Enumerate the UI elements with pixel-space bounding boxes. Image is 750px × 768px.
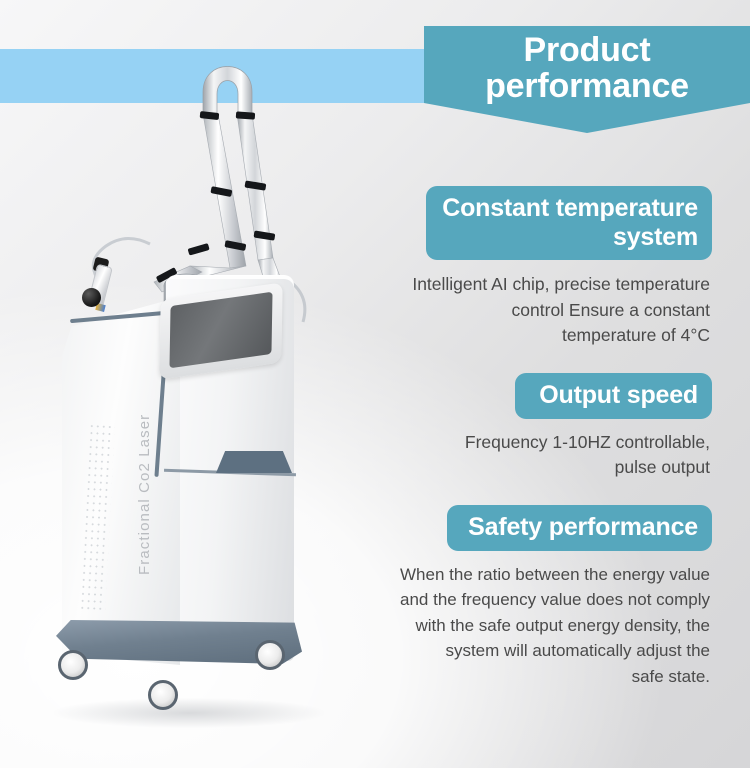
feature-heading-pill: Safety performance [447,505,712,551]
caster-wheel-disc [255,640,285,670]
caster-wheel [255,640,289,674]
feature-heading-row: Constant temperature system [330,186,712,260]
caster-wheel-disc [148,680,178,710]
feature-body-text: Intelligent AI chip, precise temperature… [330,260,712,349]
caster-wheel [148,680,182,714]
feature-heading-pill: Constant temperature system [426,186,712,260]
product-image: Fractional Co2 Laser [40,20,370,750]
header-banner: Product performance [424,26,750,133]
caster-wheel-disc [58,650,88,680]
feature-output-speed: Output speed Frequency 1-10HZ controllab… [330,373,712,481]
floor-shadow [54,698,324,728]
feature-heading-pill: Output speed [515,373,712,419]
feature-body-text: Frequency 1-10HZ controllable, pulse out… [330,419,712,481]
banner-title: Product performance [485,32,689,105]
feature-heading-row: Output speed [330,373,712,419]
product-label: Fractional Co2 Laser [136,414,153,575]
caster-wheel [58,650,92,684]
feature-constant-temperature-system: Constant temperature system Intelligent … [330,186,712,349]
feature-safety-performance: Safety performance When the ratio betwee… [330,505,712,689]
feature-heading-row: Safety performance [330,505,712,551]
feature-list: Constant temperature system Intelligent … [330,186,712,697]
feature-body-text: When the ratio between the energy value … [330,551,712,690]
front-slot [216,451,292,473]
product-performance-slide: Product performance [0,0,750,768]
